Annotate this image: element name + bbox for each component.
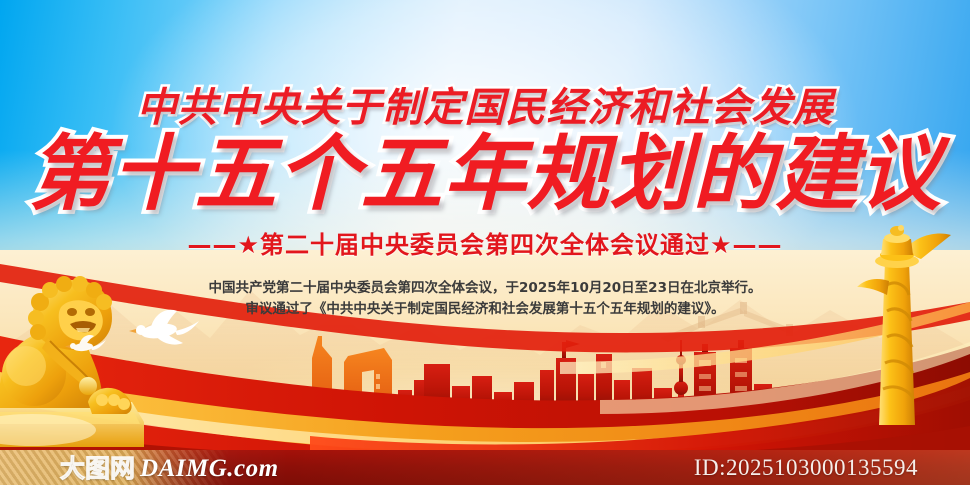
watermark-cn-text: 大图网 (60, 456, 135, 481)
headline-line-2: 第十五个五年规划的建议 (0, 134, 970, 216)
footer-bar: 大图网 DAIMG.com ID:2025103000135594 (0, 450, 970, 485)
body-line-1: 中国共产党第二十届中央委员会第四次全体会议，于2025年10月20日至23日在北… (0, 278, 970, 299)
headline-line-1: 中共中央关于制定国民经济和社会发展 (0, 88, 970, 128)
body-paragraph: 中国共产党第二十届中央委员会第四次全体会议，于2025年10月20日至23日在北… (0, 278, 970, 320)
site-watermark: 大图网 DAIMG.com (60, 452, 279, 484)
banner-poster: 中共中央关于制定国民经济和社会发展 第十五个五年规划的建议 ——★第二十届中央委… (0, 0, 970, 485)
body-line-2: 审议通过了《中共中央关于制定国民经济和社会发展第十五个五年规划的建议》。 (0, 299, 970, 320)
watermark-en-text: DAIMG.com (140, 456, 279, 481)
subtitle-line: ——★第二十届中央委员会第四次全体会议通过★—— (0, 233, 970, 257)
asset-id-label: ID:2025103000135594 (694, 453, 918, 483)
headline-block: 中共中央关于制定国民经济和社会发展 第十五个五年规划的建议 ——★第二十届中央委… (0, 0, 970, 340)
